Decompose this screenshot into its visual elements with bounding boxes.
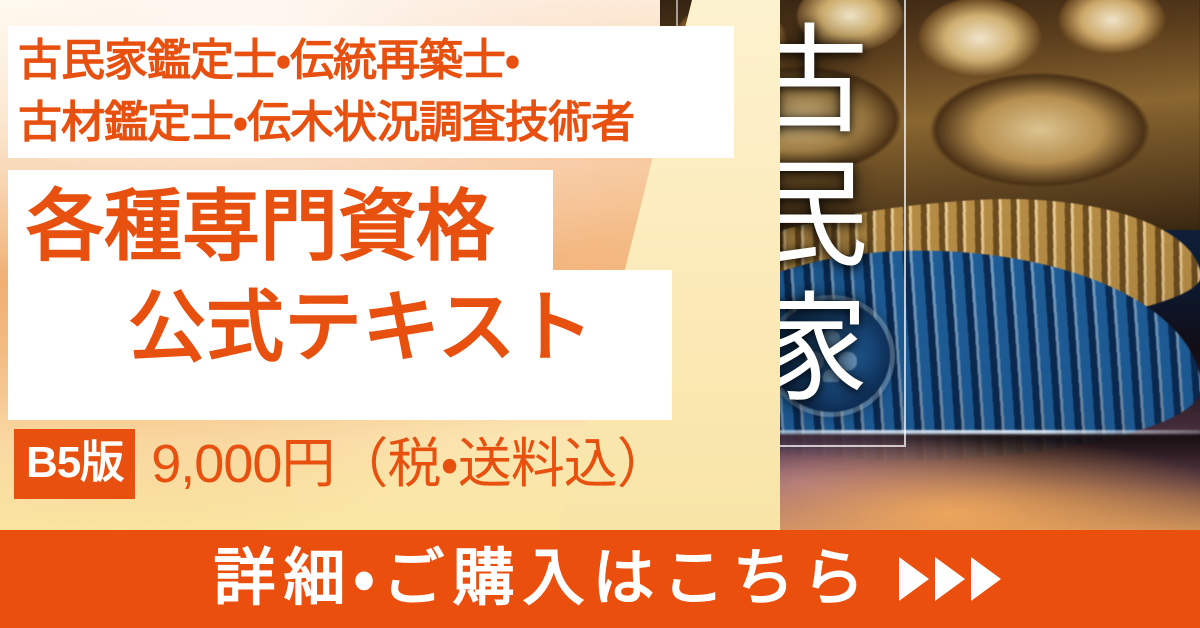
- price-row: B5版 9,000円（税・送料込）: [14, 428, 670, 500]
- arrow-triangle-3: [971, 557, 1001, 601]
- headline-line-1: 各種専門資格: [8, 176, 688, 277]
- arrow-triangle-1: [899, 557, 929, 601]
- qualification-line-2: 古材鑑定士・伝木状況調査技術者: [18, 92, 738, 154]
- cta-label: 詳細・ご購入はこちら: [199, 548, 872, 610]
- format-badge: B5版: [14, 429, 135, 499]
- headline-line-2: 公式テキスト: [8, 277, 688, 378]
- promo-banner: 伝統構法 古民家活用のための調査と再生の 古民家 古民家鑑定士・伝統再築士・ 古…: [0, 0, 1200, 628]
- qualification-list: 古民家鑑定士・伝統再築士・ 古材鑑定士・伝木状況調査技術者: [18, 30, 738, 155]
- page-title: 各種専門資格 公式テキスト: [8, 176, 688, 379]
- arrow-triangle-2: [935, 557, 965, 601]
- price-value: 9,000円（税・送料込）: [151, 437, 670, 491]
- cta-button[interactable]: 詳細・ご購入はこちら: [0, 530, 1200, 628]
- chevron-right-icon: [899, 557, 1001, 601]
- qualification-line-1: 古民家鑑定士・伝統再築士・: [18, 30, 738, 92]
